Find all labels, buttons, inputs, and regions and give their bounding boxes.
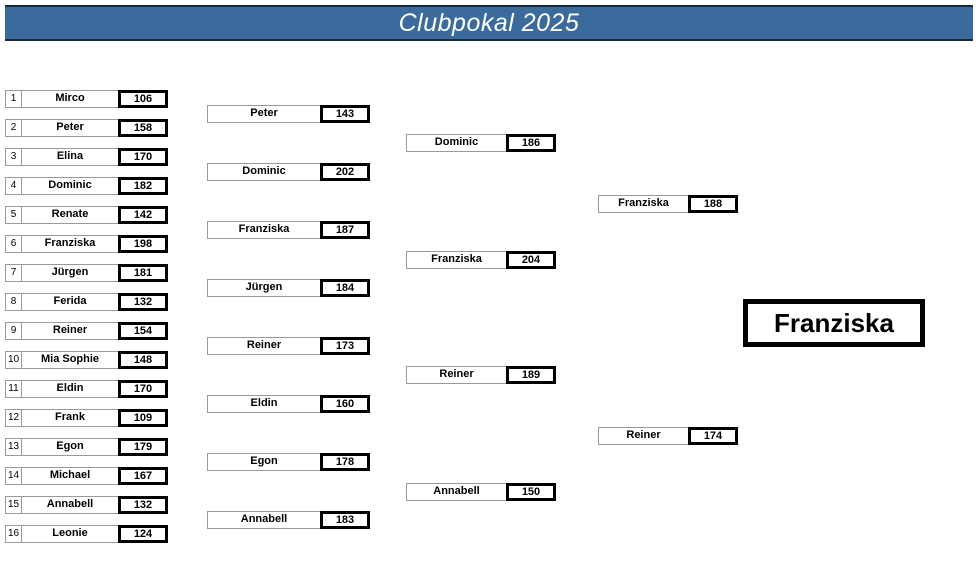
player-score: 109 (118, 409, 168, 427)
player-name: Dominic (207, 163, 321, 181)
match-row[interactable]: 2 Peter 158 (5, 119, 168, 137)
seed-number: 12 (5, 409, 22, 427)
match-row[interactable]: Eldin 160 (207, 395, 370, 413)
player-name: Ferida (22, 293, 119, 311)
seed-number: 9 (5, 322, 22, 340)
match-row[interactable]: 8 Ferida 132 (5, 293, 168, 311)
seed-number: 13 (5, 438, 22, 456)
seed-number: 2 (5, 119, 22, 137)
player-name: Leonie (22, 525, 119, 543)
player-score: 184 (320, 279, 370, 297)
player-name: Peter (207, 105, 321, 123)
seed-number: 10 (5, 351, 22, 369)
player-name: Reiner (207, 337, 321, 355)
seed-number: 11 (5, 380, 22, 398)
player-name: Annabell (207, 511, 321, 529)
player-score: 178 (320, 453, 370, 471)
player-score: 132 (118, 293, 168, 311)
player-score: 158 (118, 119, 168, 137)
match-row[interactable]: Dominic 202 (207, 163, 370, 181)
player-score: 179 (118, 438, 168, 456)
match-row[interactable]: Peter 143 (207, 105, 370, 123)
player-score: 160 (320, 395, 370, 413)
player-name: Annabell (406, 483, 507, 501)
player-name: Egon (22, 438, 119, 456)
player-name: Franziska (406, 251, 507, 269)
match-row[interactable]: 14 Michael 167 (5, 467, 168, 485)
champion-box[interactable]: Franziska (743, 299, 925, 347)
match-row[interactable]: Franziska 188 (598, 195, 738, 213)
match-row[interactable]: Franziska 187 (207, 221, 370, 239)
match-row[interactable]: Reiner 189 (406, 366, 556, 384)
match-row[interactable]: 13 Egon 179 (5, 438, 168, 456)
player-score: 142 (118, 206, 168, 224)
player-name: Elina (22, 148, 119, 166)
player-name: Franziska (598, 195, 689, 213)
seed-number: 4 (5, 177, 22, 195)
seed-number: 1 (5, 90, 22, 108)
player-name: Reiner (406, 366, 507, 384)
match-row[interactable]: Franziska 204 (406, 251, 556, 269)
player-name: Eldin (22, 380, 119, 398)
player-score: 186 (506, 134, 556, 152)
match-row[interactable]: 7 Jürgen 181 (5, 264, 168, 282)
player-name: Reiner (22, 322, 119, 340)
match-row[interactable]: 4 Dominic 182 (5, 177, 168, 195)
player-name: Annabell (22, 496, 119, 514)
player-name: Michael (22, 467, 119, 485)
match-row[interactable]: Annabell 150 (406, 483, 556, 501)
player-score: 150 (506, 483, 556, 501)
player-name: Mirco (22, 90, 119, 108)
player-name: Renate (22, 206, 119, 224)
player-score: 148 (118, 351, 168, 369)
match-row[interactable]: Annabell 183 (207, 511, 370, 529)
seed-number: 15 (5, 496, 22, 514)
player-score: 189 (506, 366, 556, 384)
player-name: Dominic (22, 177, 119, 195)
match-row[interactable]: Reiner 174 (598, 427, 738, 445)
player-score: 202 (320, 163, 370, 181)
match-row[interactable]: 15 Annabell 132 (5, 496, 168, 514)
player-score: 154 (118, 322, 168, 340)
player-score: 170 (118, 380, 168, 398)
player-name: Franziska (207, 221, 321, 239)
player-score: 204 (506, 251, 556, 269)
match-row[interactable]: 1 Mirco 106 (5, 90, 168, 108)
player-score: 170 (118, 148, 168, 166)
player-name: Eldin (207, 395, 321, 413)
player-name: Jürgen (22, 264, 119, 282)
player-name: Egon (207, 453, 321, 471)
tournament-bracket: 1 Mirco 106 2 Peter 158 3 Elina 170 4 Do… (0, 0, 979, 563)
player-score: 143 (320, 105, 370, 123)
player-score: 198 (118, 235, 168, 253)
player-score: 188 (688, 195, 738, 213)
match-row[interactable]: 10 Mia Sophie 148 (5, 351, 168, 369)
player-score: 181 (118, 264, 168, 282)
seed-number: 6 (5, 235, 22, 253)
player-name: Peter (22, 119, 119, 137)
player-score: 187 (320, 221, 370, 239)
match-row[interactable]: 6 Franziska 198 (5, 235, 168, 253)
player-score: 173 (320, 337, 370, 355)
seed-number: 7 (5, 264, 22, 282)
seed-number: 16 (5, 525, 22, 543)
player-score: 106 (118, 90, 168, 108)
player-name: Reiner (598, 427, 689, 445)
player-name: Mia Sophie (22, 351, 119, 369)
seed-number: 14 (5, 467, 22, 485)
player-score: 182 (118, 177, 168, 195)
champion-name: Franziska (774, 310, 894, 336)
match-row[interactable]: Reiner 173 (207, 337, 370, 355)
match-row[interactable]: 12 Frank 109 (5, 409, 168, 427)
match-row[interactable]: Jürgen 184 (207, 279, 370, 297)
player-name: Franziska (22, 235, 119, 253)
seed-number: 8 (5, 293, 22, 311)
player-score: 167 (118, 467, 168, 485)
player-name: Frank (22, 409, 119, 427)
player-score: 183 (320, 511, 370, 529)
player-score: 124 (118, 525, 168, 543)
match-row[interactable]: 5 Renate 142 (5, 206, 168, 224)
match-row[interactable]: 9 Reiner 154 (5, 322, 168, 340)
match-row[interactable]: 16 Leonie 124 (5, 525, 168, 543)
match-row[interactable]: 3 Elina 170 (5, 148, 168, 166)
match-row[interactable]: Egon 178 (207, 453, 370, 471)
player-score: 174 (688, 427, 738, 445)
player-name: Dominic (406, 134, 507, 152)
player-score: 132 (118, 496, 168, 514)
player-name: Jürgen (207, 279, 321, 297)
seed-number: 3 (5, 148, 22, 166)
match-row[interactable]: Dominic 186 (406, 134, 556, 152)
seed-number: 5 (5, 206, 22, 224)
match-row[interactable]: 11 Eldin 170 (5, 380, 168, 398)
